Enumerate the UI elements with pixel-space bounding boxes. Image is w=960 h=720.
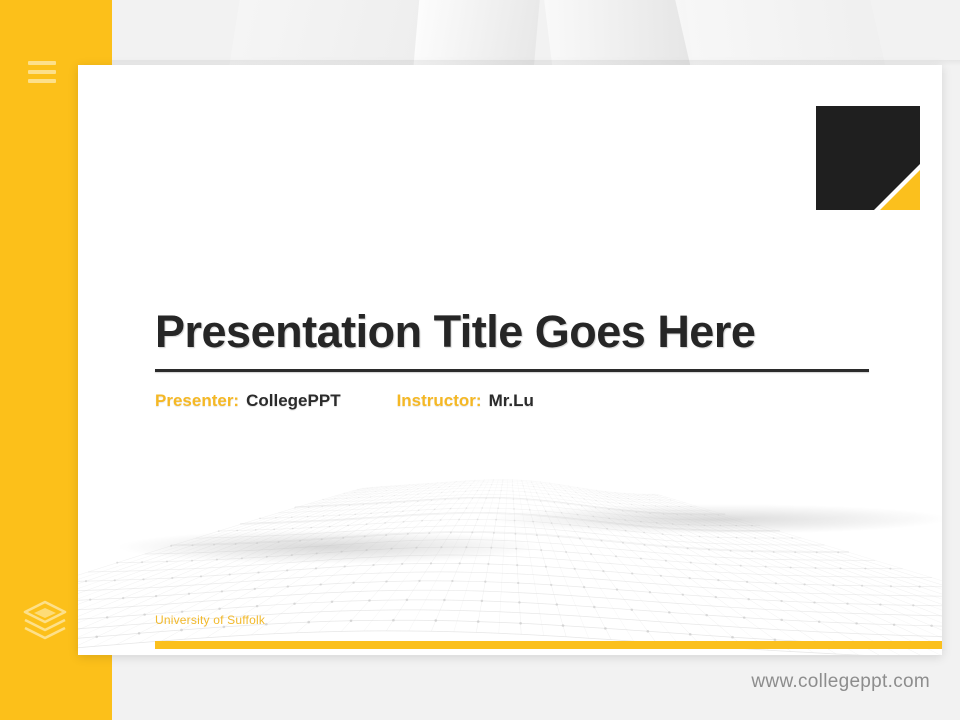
- title-block: Presentation Title Goes Here Presenter: …: [155, 308, 869, 411]
- brand-logo-glyph: [816, 106, 920, 210]
- background-ribbon-3: [531, 0, 702, 70]
- layers-stack-glyph: [22, 598, 68, 642]
- layers-stack-icon[interactable]: [22, 598, 62, 638]
- presenter-meta-row: Presenter: CollegePPT Instructor: Mr.Lu: [155, 391, 869, 411]
- title-underline-rule: [155, 369, 869, 372]
- presenter-value: CollegePPT: [246, 391, 340, 411]
- instructor-value: Mr.Lu: [489, 391, 534, 411]
- brand-logo-mark: [816, 106, 920, 210]
- background-ribbon-art: [0, 0, 960, 70]
- presenter-meta-item: Presenter: CollegePPT: [155, 391, 341, 411]
- hamburger-bar-middle: [28, 70, 56, 74]
- hamburger-bar-top: [28, 61, 56, 65]
- instructor-label: Instructor:: [397, 391, 482, 411]
- bottom-accent-bar: [155, 641, 942, 649]
- mesh-crest-glow-left: [118, 530, 538, 564]
- slide-page-root: Presentation Title Goes Here Presenter: …: [0, 0, 960, 720]
- background-ribbon-2: [408, 0, 550, 70]
- slide-card: Presentation Title Goes Here Presenter: …: [78, 65, 942, 655]
- footer-url: www.collegeppt.com: [751, 671, 930, 693]
- presenter-label: Presenter:: [155, 391, 239, 411]
- hamburger-menu-icon[interactable]: [22, 52, 62, 92]
- page-title: Presentation Title Goes Here: [155, 308, 869, 357]
- university-label: University of Suffolk: [155, 613, 265, 627]
- background-ribbon-1: [221, 0, 459, 70]
- hamburger-bar-bottom: [28, 79, 56, 83]
- background-ribbon-4: [652, 0, 896, 70]
- instructor-meta-item: Instructor: Mr.Lu: [397, 391, 534, 411]
- layers-top-fill: [34, 608, 56, 618]
- mesh-top-fade: [78, 455, 942, 527]
